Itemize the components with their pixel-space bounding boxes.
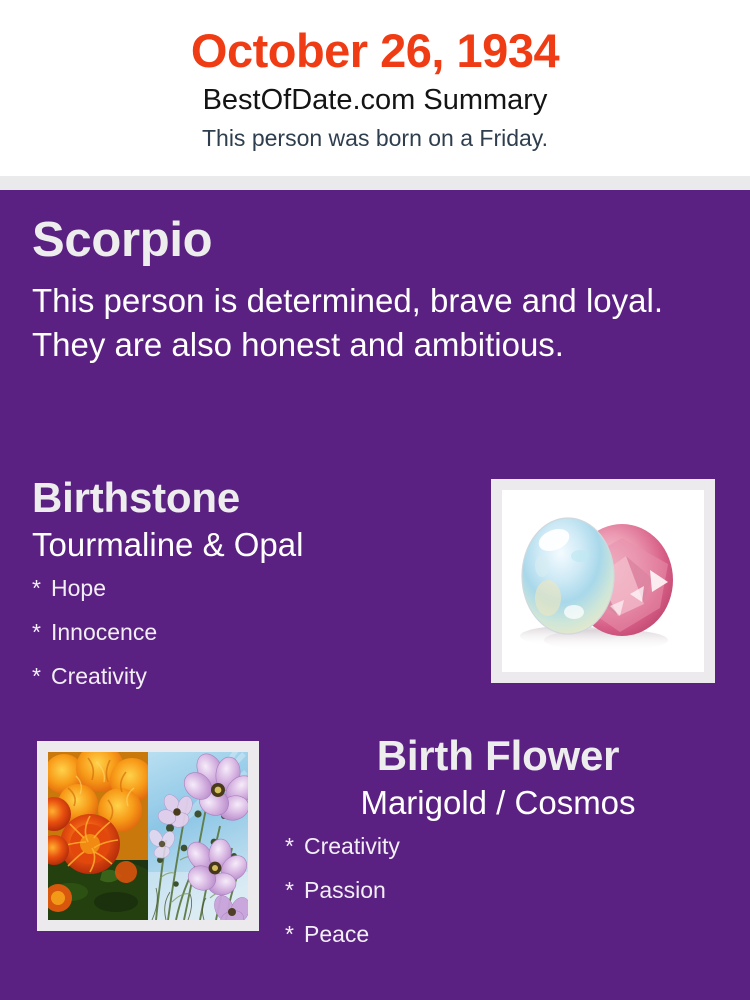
born-day-note: This person was born on a Friday. bbox=[0, 117, 750, 151]
site-summary-label: BestOfDate.com Summary bbox=[0, 75, 750, 117]
birth-flower-image-frame bbox=[37, 741, 259, 931]
birth-flower-section: Birth Flower Marigold / Cosmos *Creativi… bbox=[278, 735, 728, 967]
birthstone-trait-label: Hope bbox=[51, 575, 106, 601]
list-item: *Hope bbox=[32, 577, 472, 621]
birth-flower-image bbox=[48, 752, 248, 920]
birthstone-stones: Tourmaline & Opal bbox=[32, 519, 472, 563]
birthstone-heading: Birthstone bbox=[32, 477, 472, 519]
details-panel: Scorpio This person is determined, brave… bbox=[0, 190, 750, 1000]
list-item: *Creativity bbox=[285, 835, 728, 879]
bullet-star-icon: * bbox=[32, 577, 51, 600]
bullet-star-icon: * bbox=[285, 879, 304, 902]
header-divider bbox=[0, 176, 750, 190]
zodiac-section: Scorpio This person is determined, brave… bbox=[32, 216, 712, 367]
summary-card: October 26, 1934 BestOfDate.com Summary … bbox=[0, 0, 750, 1000]
birth-flower-flowers: Marigold / Cosmos bbox=[278, 777, 728, 821]
birthstone-image bbox=[502, 490, 704, 672]
birth-flower-trait-list: *Creativity *Passion *Peace bbox=[278, 821, 728, 967]
opal-gem bbox=[522, 518, 614, 634]
birthstone-trait-label: Innocence bbox=[51, 619, 157, 645]
bullet-star-icon: * bbox=[285, 835, 304, 858]
bullet-star-icon: * bbox=[32, 665, 51, 688]
list-item: *Creativity bbox=[32, 665, 472, 709]
birthstone-trait-label: Creativity bbox=[51, 663, 147, 689]
bullet-star-icon: * bbox=[285, 923, 304, 946]
birth-flower-heading: Birth Flower bbox=[278, 735, 728, 777]
birth-flower-trait-label: Passion bbox=[304, 877, 386, 903]
birthstone-trait-list: *Hope *Innocence *Creativity bbox=[32, 563, 472, 709]
marigold-cosmos-icon bbox=[48, 752, 248, 920]
card-header: October 26, 1934 BestOfDate.com Summary … bbox=[0, 0, 750, 176]
list-item: *Innocence bbox=[32, 621, 472, 665]
list-item: *Passion bbox=[285, 879, 728, 923]
page-title: October 26, 1934 bbox=[0, 0, 750, 75]
birthstone-section: Birthstone Tourmaline & Opal *Hope *Inno… bbox=[32, 477, 472, 709]
birth-flower-trait-label: Peace bbox=[304, 921, 369, 947]
zodiac-description: This person is determined, brave and loy… bbox=[32, 265, 692, 367]
birthstone-image-frame bbox=[491, 479, 715, 683]
birth-flower-trait-label: Creativity bbox=[304, 833, 400, 859]
bullet-star-icon: * bbox=[32, 621, 51, 644]
zodiac-sign-name: Scorpio bbox=[32, 216, 712, 265]
gemstones-icon bbox=[502, 490, 704, 672]
list-item: *Peace bbox=[285, 923, 728, 967]
